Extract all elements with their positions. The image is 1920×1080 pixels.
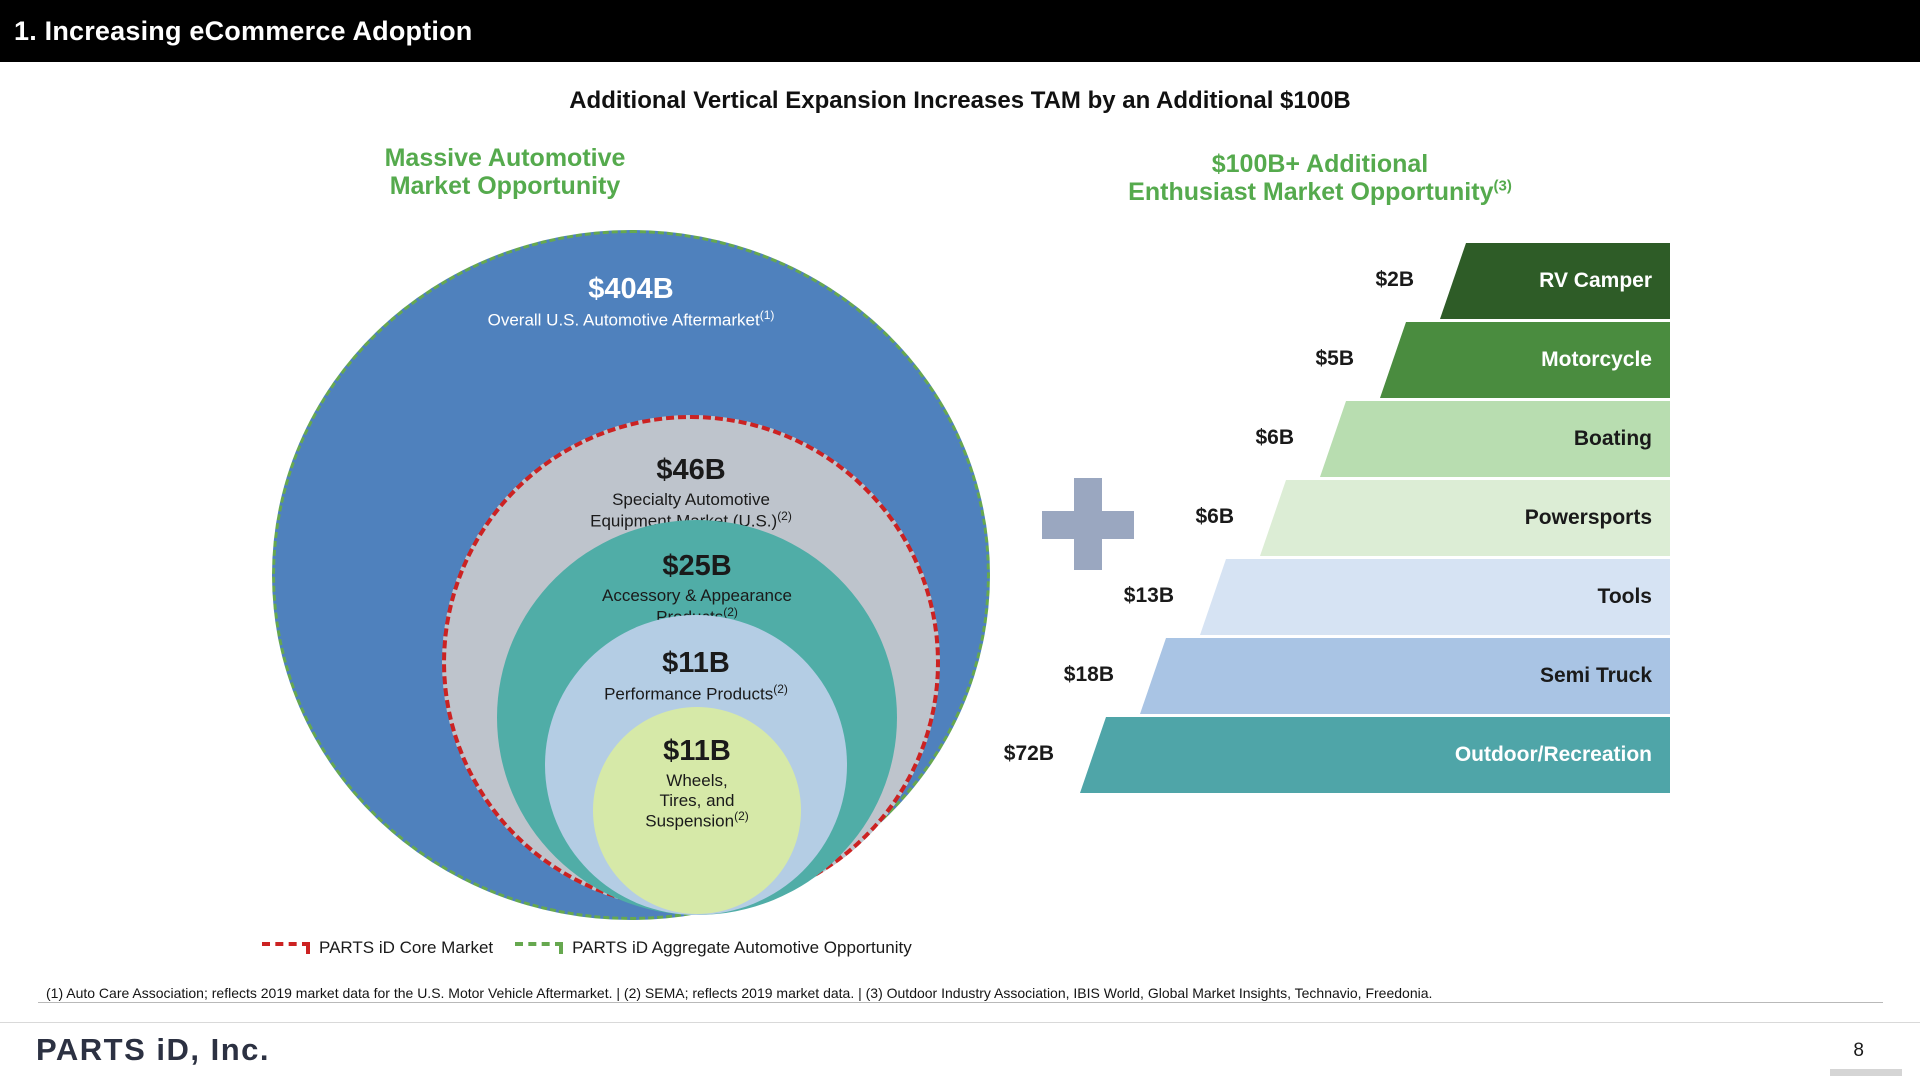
- legend-label-aggregate-opportunity: PARTS iD Aggregate Automotive Opportunit…: [572, 938, 912, 958]
- funnel-row: $5BMotorcycle: [1080, 322, 1670, 398]
- circle-label-11b-wheels: $11B Wheels,Tires, andSuspension(2): [593, 735, 801, 832]
- right-heading-footnote-ref: (3): [1493, 178, 1511, 195]
- circle-desc-404b: Overall U.S. Automotive Aftermarket(1): [275, 309, 987, 330]
- circle-amount-25b: $25B: [497, 550, 897, 583]
- circle-desc-line2-11b-wheels: Tires, and: [660, 791, 735, 810]
- circle-amount-404b: $404B: [275, 273, 987, 306]
- funnel-label-powersports: Powersports: [1525, 506, 1652, 530]
- funnel-bar-rv-camper: RV Camper: [1440, 243, 1670, 319]
- dashed-line-red-icon: [262, 942, 310, 954]
- right-heading-line2: Enthusiast Market Opportunity: [1128, 178, 1493, 206]
- funnel-value-powersports: $6B: [1195, 505, 1234, 529]
- right-column-heading: $100B+ Additional Enthusiast Market Oppo…: [1020, 150, 1620, 206]
- company-logo: PARTS iD, Inc.: [36, 1032, 270, 1068]
- funnel-bar-tools: Tools: [1200, 559, 1670, 635]
- footnote-divider: [38, 1002, 1883, 1003]
- footer-accent-bar: [1830, 1069, 1902, 1076]
- footnote-text: (1) Auto Care Association; reflects 2019…: [46, 985, 1432, 1001]
- funnel-value-semi-truck: $18B: [1064, 663, 1114, 687]
- funnel-label-motorcycle: Motorcycle: [1541, 348, 1652, 372]
- left-heading-line2: Market Opportunity: [390, 172, 621, 200]
- funnel-bar-semi-truck: Semi Truck: [1140, 638, 1670, 714]
- funnel-value-boating: $6B: [1255, 426, 1294, 450]
- funnel-value-tools: $13B: [1124, 584, 1174, 608]
- funnel-row: $72BOutdoor/Recreation: [1080, 717, 1670, 793]
- enthusiast-market-funnel-chart: $2BRV Camper$5BMotorcycle$6BBoating$6BPo…: [1080, 243, 1670, 923]
- funnel-label-rv-camper: RV Camper: [1539, 269, 1652, 293]
- header-bar: 1. Increasing eCommerce Adoption: [0, 0, 1920, 62]
- circle-footnote-11b-performance: (2): [773, 682, 788, 696]
- funnel-bar-boating: Boating: [1320, 401, 1670, 477]
- funnel-row: $2BRV Camper: [1080, 243, 1670, 319]
- funnel-row: $13BTools: [1080, 559, 1670, 635]
- funnel-bar-motorcycle: Motorcycle: [1380, 322, 1670, 398]
- footer-divider: [0, 1022, 1920, 1023]
- legend-label-core-market: PARTS iD Core Market: [319, 938, 493, 958]
- circle-desc-line3-11b-wheels: Suspension: [645, 812, 734, 831]
- circle-desc-line1-46b: Specialty Automotive: [612, 490, 770, 509]
- funnel-value-motorcycle: $5B: [1315, 347, 1354, 371]
- page-number: 8: [1853, 1040, 1864, 1062]
- circle-desc-line1-25b: Accessory & Appearance: [602, 586, 792, 605]
- funnel-label-tools: Tools: [1598, 585, 1652, 609]
- circle-footnote-11b-wheels: (2): [734, 809, 749, 823]
- slide-subtitle: Additional Vertical Expansion Increases …: [0, 87, 1920, 115]
- circle-label-404b: $404B Overall U.S. Automotive Aftermarke…: [275, 273, 987, 331]
- circle-desc-11b-performance: Performance Products(2): [545, 683, 847, 704]
- circle-amount-11b-wheels: $11B: [593, 735, 801, 768]
- funnel-label-semi-truck: Semi Truck: [1540, 664, 1652, 688]
- funnel-bar-outdoor-recreation: Outdoor/Recreation: [1080, 717, 1670, 793]
- circle-amount-46b: $46B: [446, 454, 936, 487]
- funnel-row: $18BSemi Truck: [1080, 638, 1670, 714]
- legend: PARTS iD Core Market PARTS iD Aggregate …: [262, 938, 962, 958]
- circle-wheels-tires-suspension: $11B Wheels,Tires, andSuspension(2): [593, 707, 801, 914]
- funnel-value-rv-camper: $2B: [1375, 268, 1414, 292]
- page-title: 1. Increasing eCommerce Adoption: [14, 16, 473, 47]
- funnel-label-outdoor-recreation: Outdoor/Recreation: [1455, 743, 1652, 767]
- circle-desc-line1-11b-performance: Performance Products: [604, 685, 773, 704]
- funnel-bar-powersports: Powersports: [1260, 480, 1670, 556]
- dashed-line-green-icon: [515, 942, 563, 954]
- funnel-value-outdoor-recreation: $72B: [1004, 742, 1054, 766]
- circle-footnote-46b: (2): [777, 509, 792, 523]
- left-heading-line1: Massive Automotive: [385, 144, 626, 172]
- left-column-heading: Massive Automotive Market Opportunity: [300, 144, 710, 200]
- circle-desc-11b-wheels: Wheels,Tires, andSuspension(2): [593, 771, 801, 831]
- circle-desc-text-404b: Overall U.S. Automotive Aftermarket: [488, 311, 760, 330]
- right-heading-line1: $100B+ Additional: [1212, 150, 1429, 178]
- funnel-row: $6BPowersports: [1080, 480, 1670, 556]
- funnel-label-boating: Boating: [1574, 427, 1652, 451]
- circle-label-11b-performance: $11B Performance Products(2): [545, 647, 847, 705]
- legend-item-aggregate-opportunity: PARTS iD Aggregate Automotive Opportunit…: [515, 938, 912, 958]
- circle-amount-11b-performance: $11B: [545, 647, 847, 680]
- legend-item-core-market: PARTS iD Core Market: [262, 938, 493, 958]
- circle-footnote-404b: (1): [760, 308, 775, 322]
- funnel-row: $6BBoating: [1080, 401, 1670, 477]
- circle-desc-line1-11b-wheels: Wheels,: [666, 771, 727, 790]
- circle-footnote-25b: (2): [723, 605, 738, 619]
- concentric-circles-diagram: $404B Overall U.S. Automotive Aftermarke…: [250, 220, 990, 920]
